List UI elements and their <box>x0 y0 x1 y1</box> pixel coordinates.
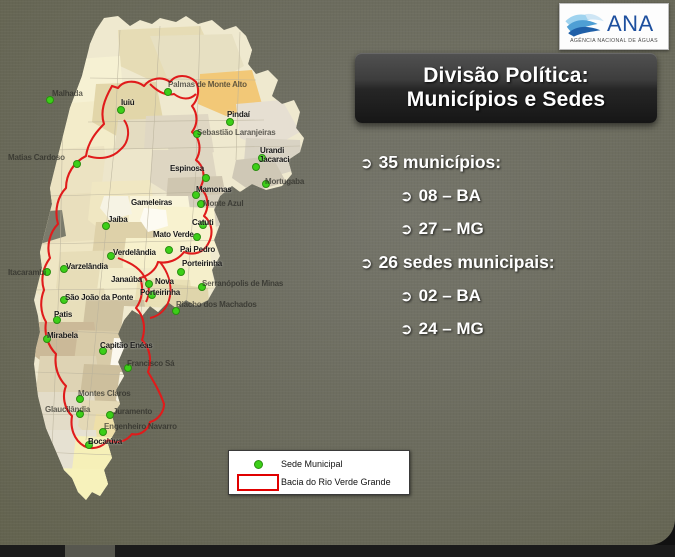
green-dot-icon <box>254 460 263 469</box>
map-label: Serranópolis de Minas <box>202 279 283 288</box>
bullet-item-2: ➲27 – MG <box>358 219 668 239</box>
map-label: Matias Cardoso <box>8 153 65 162</box>
map-label: Varzelândia <box>66 262 108 271</box>
map-seat-dot <box>117 106 125 114</box>
bullet-text: 08 – BA <box>419 186 481 206</box>
map-seat-dot <box>145 280 153 288</box>
map-seat-dot <box>165 246 173 254</box>
map-label: Iuiú <box>121 98 134 107</box>
map-label: Espinosa <box>170 164 204 173</box>
map-seat-dot <box>73 160 81 168</box>
title-plaque: Divisão Política: Municípios e Sedes <box>355 53 657 123</box>
bullet-text: 27 – MG <box>419 219 484 239</box>
water-wave-icon <box>564 10 606 38</box>
legend-item-sede: Sede Municipal <box>235 455 403 473</box>
legend-item-bacia: Bacia do Rio Verde Grande <box>235 473 403 491</box>
map-label: Urandi <box>260 146 284 155</box>
legend-key-red-rect <box>235 474 281 491</box>
bullet-text: 02 – BA <box>419 286 481 306</box>
map-seat-dot <box>177 268 185 276</box>
bullet-item-1: ➲08 – BA <box>358 186 668 206</box>
map-seat-dot <box>193 233 201 241</box>
bullet-glyph-icon: ➲ <box>400 322 413 337</box>
ana-logo: ANA AGÊNCIA NACIONAL DE ÁGUAS <box>559 3 669 50</box>
map-label: Pai Pedro <box>180 245 215 254</box>
map-label: Malhada <box>52 89 83 98</box>
ana-logo-row: ANA <box>560 9 668 39</box>
map-label: Janaúba <box>111 275 142 284</box>
map-seat-dot <box>202 174 210 182</box>
map-label: Capitão Enéas <box>100 341 153 350</box>
map-label: Mamonas <box>196 185 232 194</box>
red-outline-rect-icon <box>237 474 279 491</box>
map-label: Bocaiúva <box>88 437 122 446</box>
bullet-item-0: ➲35 municípios: <box>358 152 668 173</box>
bullet-list: ➲35 municípios:➲08 – BA➲27 – MG➲26 sedes… <box>358 152 668 352</box>
map-label: São João da Ponte <box>65 293 133 302</box>
map-label: Porteirinha <box>182 259 222 268</box>
map-label: Engenheiro Navarro <box>104 422 177 431</box>
map-label: Patis <box>54 310 72 319</box>
map-label: Sebastião Laranjeiras <box>197 128 276 137</box>
ana-wordmark: ANA <box>607 13 654 35</box>
map-label: Verdelândia <box>113 248 156 257</box>
map-label: Mirabela <box>47 331 78 340</box>
legend-key-green-dot <box>235 460 281 469</box>
map-label: Gameleiras <box>131 198 172 207</box>
map-seat-dot <box>164 88 172 96</box>
bullet-text: 24 – MG <box>419 319 484 339</box>
map-label: Porteirinha <box>140 288 180 297</box>
map-seat-dot <box>252 163 260 171</box>
map-label: Mortugaba <box>265 177 304 186</box>
map-label: Jaíba <box>108 215 127 224</box>
map-label: Francisco Sá <box>127 359 174 368</box>
bullet-glyph-icon: ➲ <box>400 222 413 237</box>
map-label: Monte Azul <box>203 199 243 208</box>
map-label: Nova <box>155 277 174 286</box>
ana-subtitle: AGÊNCIA NACIONAL DE ÁGUAS <box>570 38 658 44</box>
bullet-item-3: ➲26 sedes municipais: <box>358 252 668 273</box>
map-label: Riacho dos Machados <box>176 300 257 309</box>
slide-canvas: MalhadaIuiúPalmas de Monte AltoPindaíSeb… <box>0 0 675 545</box>
map-legend: Sede Municipal Bacia do Rio Verde Grande <box>228 450 410 495</box>
legend-label-sede: Sede Municipal <box>281 459 343 469</box>
map-label: Jacaraci <box>259 155 289 164</box>
map-label: Catuti <box>192 218 213 227</box>
taskbar-segment[interactable] <box>65 545 115 557</box>
map-label: Montes Claros <box>78 389 131 398</box>
bullet-item-5: ➲24 – MG <box>358 319 668 339</box>
legend-label-bacia: Bacia do Rio Verde Grande <box>281 477 391 487</box>
bullet-glyph-icon: ➲ <box>360 256 373 271</box>
map-label: Juramento <box>113 407 152 416</box>
bottom-bar <box>0 545 675 557</box>
map-label: Itacarambi <box>8 268 46 277</box>
bullet-glyph-icon: ➲ <box>400 289 413 304</box>
map-label: Palmas de Monte Alto <box>168 80 247 89</box>
map-label: Pindaí <box>227 110 250 119</box>
bullet-glyph-icon: ➲ <box>400 189 413 204</box>
bullet-text: 26 sedes municipais: <box>379 252 555 273</box>
page-title-line1: Divisão Política: <box>423 64 589 88</box>
bullet-item-4: ➲02 – BA <box>358 286 668 306</box>
bullet-glyph-icon: ➲ <box>360 156 373 171</box>
map-label: Mato Verde <box>153 230 194 239</box>
page-title-line2: Municípios e Sedes <box>407 88 606 112</box>
bullet-text: 35 municípios: <box>379 152 502 173</box>
map-label: Glaucilândia <box>45 405 90 414</box>
map-seat-dot <box>226 118 234 126</box>
